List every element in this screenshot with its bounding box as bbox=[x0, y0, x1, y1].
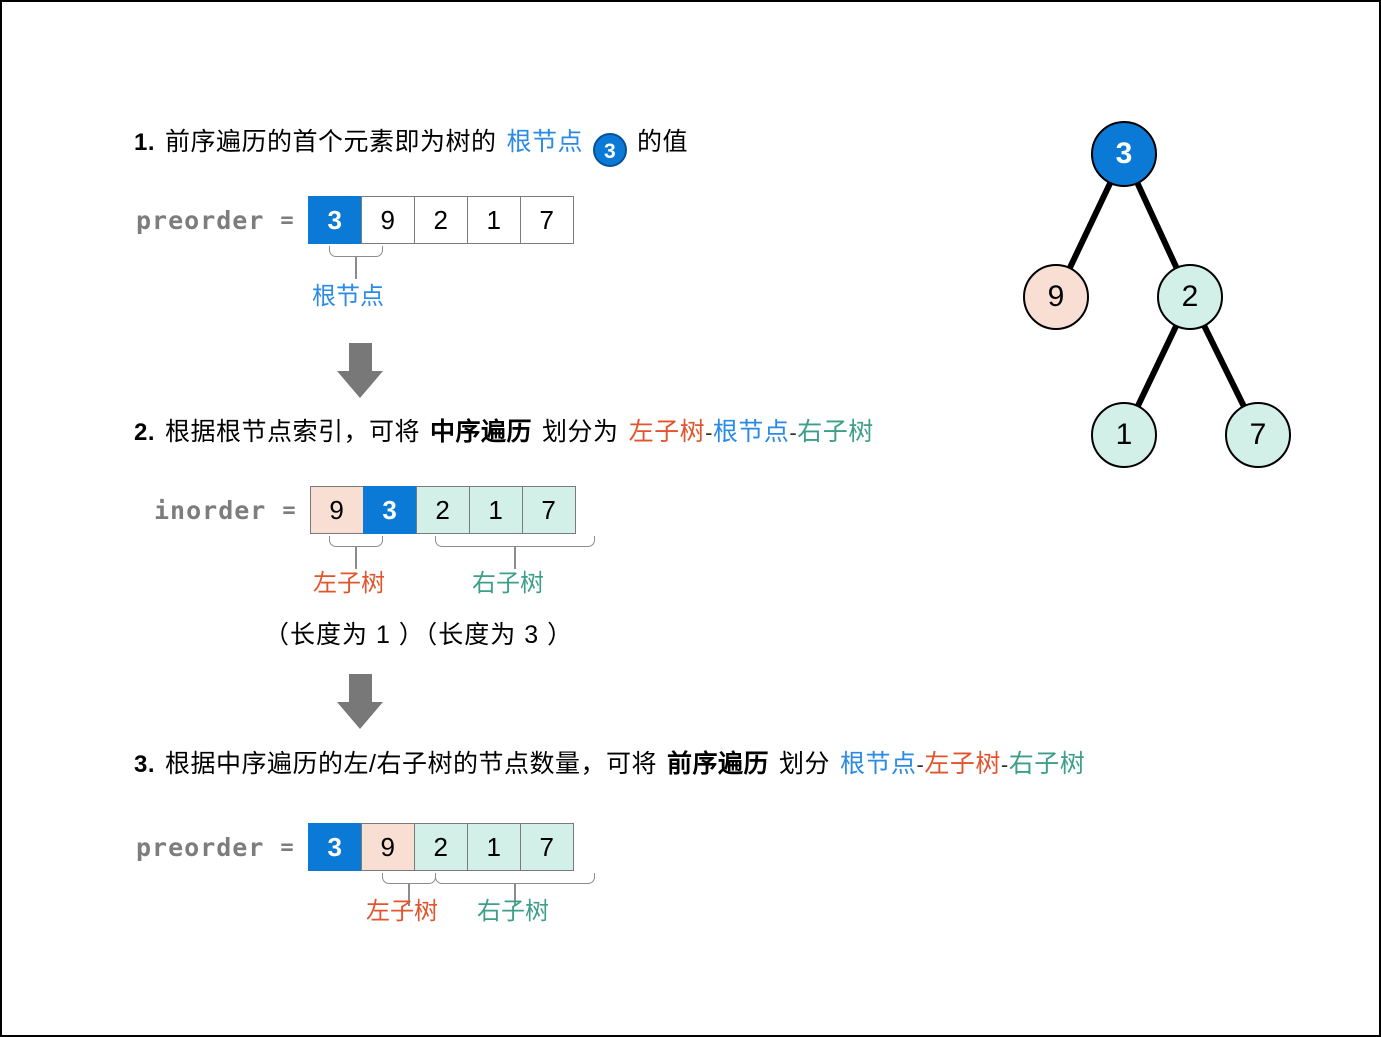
right-subtree-brace-stem bbox=[514, 547, 516, 569]
left-subtree-brace-stem bbox=[355, 547, 357, 569]
diagram-canvas: 1.前序遍历的首个元素即为树的根节点3的值 preorder = 3 9 2 1… bbox=[0, 0, 1381, 1037]
step-3-text-mid: 划分 bbox=[779, 750, 830, 778]
tree-node-root: 3 bbox=[1091, 121, 1157, 187]
tree-node-left: 9 bbox=[1023, 264, 1089, 330]
tree-node-right-left: 1 bbox=[1091, 402, 1157, 468]
step-3-text-before: 根据中序遍历的左/右子树的节点数量，可将 bbox=[165, 750, 657, 778]
tree-node-right-right: 7 bbox=[1225, 402, 1291, 468]
right-subtree-brace-label-3: 右子树 bbox=[477, 900, 549, 924]
step-3-dash-2: - bbox=[1001, 752, 1009, 777]
step-3-heading: 3.根据中序遍历的左/右子树的节点数量，可将前序遍历划分根节点-左子树-右子树 bbox=[134, 752, 1085, 777]
step-arrow-2 bbox=[337, 674, 384, 731]
right-subtree-brace bbox=[435, 536, 595, 547]
binary-tree-diagram: 3 9 2 1 7 bbox=[2, 2, 1381, 522]
arrow-head bbox=[337, 702, 383, 729]
preorder-cells-3: 3 9 2 1 7 bbox=[308, 823, 574, 871]
array-cell: 3 bbox=[308, 823, 362, 871]
left-subtree-brace-label: 左子树 bbox=[313, 572, 385, 596]
step-3-emphasis: 前序遍历 bbox=[667, 750, 769, 778]
left-subtree-brace-label-3: 左子树 bbox=[366, 900, 438, 924]
equals-sign-3: = bbox=[280, 835, 293, 860]
array-cell: 7 bbox=[520, 823, 574, 871]
step-3-split-left: 左子树 bbox=[924, 750, 1001, 778]
arrow-shaft bbox=[349, 674, 372, 704]
right-subtree-brace-label: 右子树 bbox=[472, 572, 544, 596]
left-subtree-brace-3 bbox=[382, 873, 436, 884]
step-3-split-right: 右子树 bbox=[1009, 750, 1086, 778]
subtree-length-note: （长度为 1 ）（长度为 3 ） bbox=[264, 615, 573, 651]
tree-edges bbox=[2, 2, 1381, 522]
step-3-number: 3. bbox=[134, 751, 155, 778]
preorder-array-row-3: preorder = 3 9 2 1 7 bbox=[136, 823, 574, 871]
array-cell: 2 bbox=[414, 823, 468, 871]
step-3-split-root: 根节点 bbox=[840, 750, 917, 778]
left-subtree-brace bbox=[329, 536, 383, 547]
array-cell: 1 bbox=[467, 823, 521, 871]
array-label-preorder-3: preorder bbox=[136, 833, 264, 862]
right-subtree-brace-3 bbox=[435, 873, 595, 884]
tree-node-right: 2 bbox=[1157, 264, 1223, 330]
array-cell: 9 bbox=[361, 823, 415, 871]
